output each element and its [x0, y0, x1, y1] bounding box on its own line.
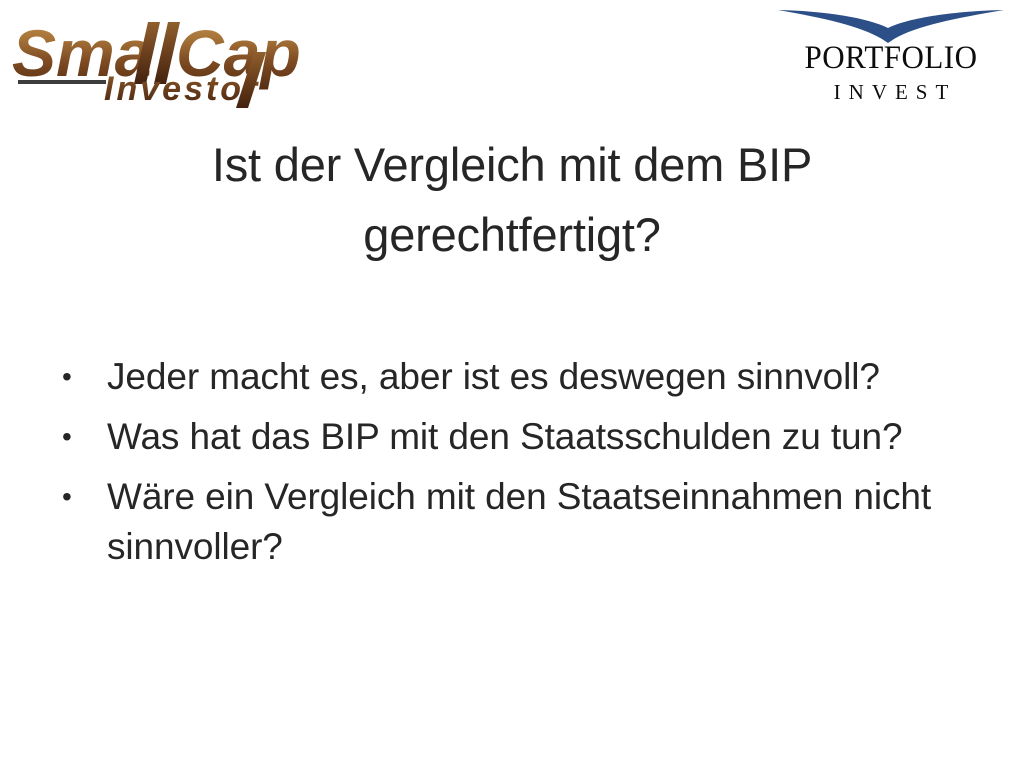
portfolio-invest-logo: PORTFOLIO INVEST	[776, 6, 1006, 112]
slide-body-bullet-list: • Jeder macht es, aber ist es deswegen s…	[52, 352, 982, 582]
bullet-marker-icon: •	[52, 352, 107, 402]
smallcap-logo-rule	[18, 80, 106, 84]
slide-title-line-2: gerechtfertigt?	[96, 200, 928, 270]
bullet-marker-icon: •	[52, 472, 107, 522]
portfolio-logo-primary-text: PORTFOLIO	[783, 42, 999, 75]
list-item: • Wäre ein Vergleich mit den Staatseinna…	[52, 472, 982, 572]
list-item-text: Wäre ein Vergleich mit den Staatseinnahm…	[107, 472, 982, 572]
list-item-text: Was hat das BIP mit den Staatsschulden z…	[107, 412, 982, 462]
smallcap-logo-investor: Investor	[104, 70, 260, 108]
portfolio-logo-secondary-text: INVEST	[776, 82, 1006, 103]
slide-canvas: Sma Cap Investor PORTFOLIO INVEST Ist de…	[0, 0, 1024, 768]
smallcap-investor-logo: Sma Cap Investor	[8, 8, 308, 108]
list-item: • Was hat das BIP mit den Staatsschulden…	[52, 412, 982, 462]
slide-title-line-1: Ist der Vergleich mit dem BIP	[96, 130, 928, 200]
list-item: • Jeder macht es, aber ist es deswegen s…	[52, 352, 982, 402]
slide-title: Ist der Vergleich mit dem BIP gerechtfer…	[96, 130, 928, 270]
portfolio-swoosh-icon	[776, 6, 1006, 44]
list-item-text: Jeder macht es, aber ist es deswegen sin…	[107, 352, 982, 402]
bullet-marker-icon: •	[52, 412, 107, 462]
